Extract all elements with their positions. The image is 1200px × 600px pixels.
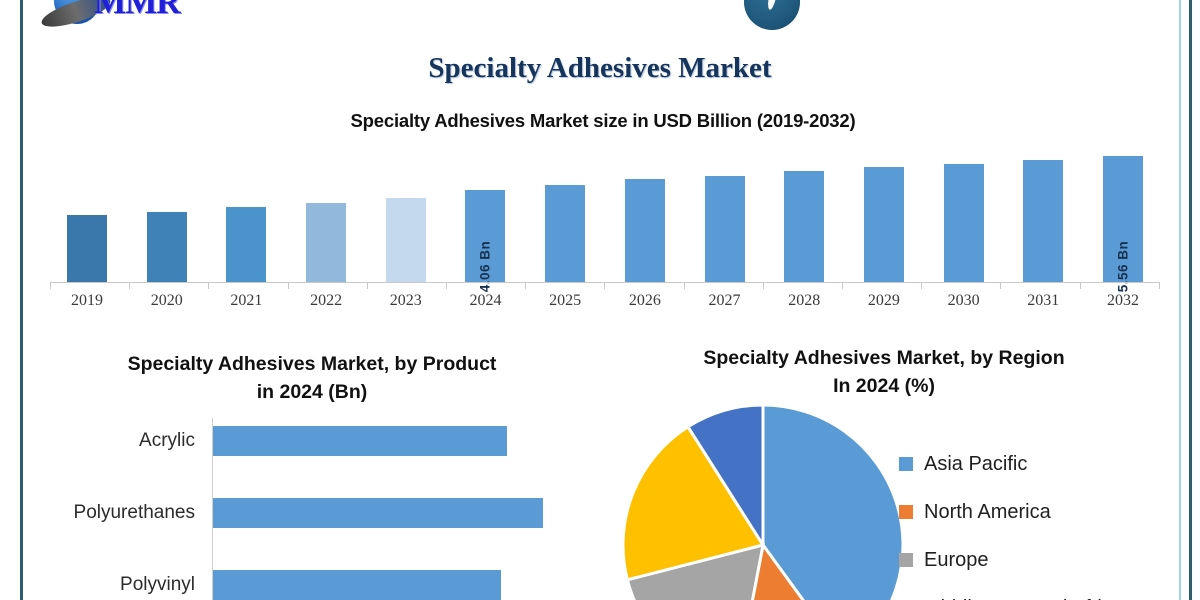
x-axis-label: 2021 <box>209 292 283 310</box>
axis-tick <box>129 282 130 289</box>
logo-text: MMR <box>94 0 180 22</box>
bar <box>545 185 585 282</box>
bar-column: 5.56 Bn <box>1086 142 1160 282</box>
bar: 4.06 Bn <box>465 190 505 282</box>
axis-tick <box>1080 282 1081 289</box>
legend-swatch <box>899 505 913 519</box>
bar <box>625 179 665 282</box>
bar <box>784 171 824 282</box>
product-row: Polyvinyl <box>24 570 600 600</box>
legend-item: Middle East and Africa <box>899 584 1179 600</box>
axis-tick <box>921 282 922 289</box>
legend-item: North America <box>899 488 1179 536</box>
x-axis-label: 2031 <box>1006 292 1080 310</box>
x-axis-label: 2026 <box>608 292 682 310</box>
frame-border-left <box>20 0 23 600</box>
pin-badge-icon <box>744 0 800 30</box>
bar-chart-x-labels: 2019202020212022202320242025202620272028… <box>50 292 1160 310</box>
product-row-label: Polyvinyl <box>24 574 204 596</box>
x-axis-label: 2024 <box>448 292 522 310</box>
pie-chart-legend: Asia PacificNorth AmericaEuropeMiddle Ea… <box>899 440 1179 600</box>
bar <box>1023 160 1063 282</box>
legend-item: Asia Pacific <box>899 440 1179 488</box>
x-axis-label: 2025 <box>528 292 602 310</box>
axis-tick <box>763 282 764 289</box>
bar-column <box>847 142 921 282</box>
legend-swatch <box>899 457 913 471</box>
bar-chart-ticks <box>50 282 1160 289</box>
bar <box>864 167 904 282</box>
page-title: Specialty Adhesives Market <box>0 52 1200 85</box>
bar-chart-title: Specialty Adhesives Market size in USD B… <box>28 110 1178 132</box>
product-row-bar <box>213 570 501 600</box>
frame-border-right-outer <box>1189 0 1192 600</box>
legend-label: Europe <box>924 549 989 572</box>
bar-column <box>50 142 124 282</box>
bar <box>705 176 745 282</box>
bar <box>147 212 187 282</box>
axis-tick <box>208 282 209 289</box>
pie-slice <box>763 405 903 600</box>
product-row: Acrylic <box>24 426 600 456</box>
bar-column <box>1006 142 1080 282</box>
x-axis-label: 2029 <box>847 292 921 310</box>
bar-column <box>289 142 363 282</box>
product-chart-plot-area: AcrylicPolyurethanesPolyvinyl <box>24 418 600 600</box>
product-row-label: Polyurethanes <box>24 502 204 524</box>
x-axis-label: 2023 <box>369 292 443 310</box>
product-row-label: Acrylic <box>24 430 204 452</box>
bar-column <box>927 142 1001 282</box>
x-axis-label: 2030 <box>927 292 1001 310</box>
bar-column: 4.06 Bn <box>448 142 522 282</box>
axis-tick <box>288 282 289 289</box>
axis-tick <box>604 282 605 289</box>
product-row-bar <box>213 498 543 528</box>
infographic-page: MMR Adhesives Market in 2024. 2024-2032 … <box>0 0 1200 600</box>
market-size-bar-chart: Specialty Adhesives Market size in USD B… <box>28 110 1178 320</box>
pie-chart-title-line2: In 2024 (%) <box>604 372 1164 400</box>
axis-tick <box>50 282 51 289</box>
by-product-bar-chart: Specialty Adhesives Market, by Product i… <box>24 350 600 600</box>
product-row-bar <box>213 426 507 456</box>
bar-chart-plot-area: 4.06 Bn5.56 Bn <box>50 142 1160 282</box>
legend-label: North America <box>924 501 1051 524</box>
legend-label: Middle East and Africa <box>924 597 1123 600</box>
x-axis-label: 2028 <box>767 292 841 310</box>
bar <box>226 207 266 282</box>
axis-tick <box>446 282 447 289</box>
axis-tick <box>525 282 526 289</box>
bar <box>944 164 984 282</box>
x-axis-label: 2019 <box>50 292 124 310</box>
axis-tick <box>1000 282 1001 289</box>
x-axis-label: 2027 <box>688 292 762 310</box>
product-chart-title-line1: Specialty Adhesives Market, by Product <box>24 350 600 378</box>
bar-column <box>528 142 602 282</box>
bar-column <box>130 142 204 282</box>
pie-svg <box>618 400 908 600</box>
by-region-pie-chart: Specialty Adhesives Market, by Region In… <box>604 344 1180 600</box>
product-chart-title: Specialty Adhesives Market, by Product i… <box>24 350 600 407</box>
header: MMR Adhesives Market in 2024. 2024-2032 <box>24 0 1174 32</box>
axis-tick <box>684 282 685 289</box>
bar-column <box>767 142 841 282</box>
bar: 5.56 Bn <box>1103 156 1143 282</box>
bar <box>306 203 346 282</box>
bar-column <box>608 142 682 282</box>
pie-chart-title-line1: Specialty Adhesives Market, by Region <box>604 344 1164 372</box>
axis-tick <box>842 282 843 289</box>
axis-tick <box>1159 282 1160 289</box>
legend-swatch <box>899 553 913 567</box>
pie-chart-title: Specialty Adhesives Market, by Region In… <box>604 344 1164 401</box>
bar-column <box>209 142 283 282</box>
brand-logo: MMR <box>32 0 222 30</box>
bar-column <box>369 142 443 282</box>
legend-item: Europe <box>899 536 1179 584</box>
legend-label: Asia Pacific <box>924 453 1027 476</box>
x-axis-label: 2032 <box>1086 292 1160 310</box>
bar <box>67 215 107 282</box>
bar <box>386 198 426 282</box>
pie-graphic <box>618 400 908 600</box>
x-axis-label: 2020 <box>130 292 204 310</box>
product-row: Polyurethanes <box>24 498 600 528</box>
bar-column <box>688 142 762 282</box>
x-axis-label: 2022 <box>289 292 363 310</box>
product-chart-title-line2: in 2024 (Bn) <box>24 378 600 406</box>
axis-tick <box>367 282 368 289</box>
